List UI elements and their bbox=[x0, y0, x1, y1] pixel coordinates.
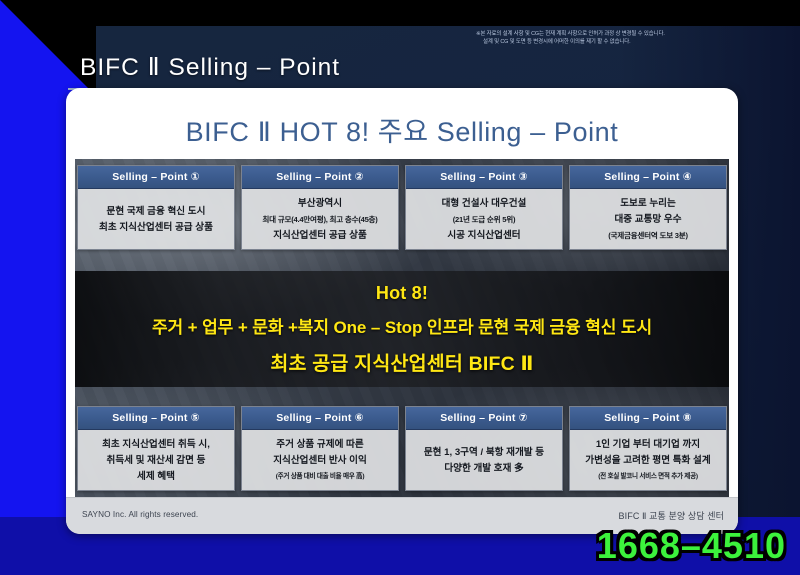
selling-point-2-body: 부산광역시 최대 규모(4.4만여평), 최고 층수(45층) 지식산업센터 공… bbox=[242, 189, 398, 249]
selling-point-card-6[interactable]: Selling – Point ⑥ 주거 상품 규제에 따른 지식산업센터 반사… bbox=[241, 406, 399, 491]
selling-point-3-line-1: 대형 건설사 대우건설 bbox=[410, 198, 558, 209]
selling-point-6-line-2: 지식산업센터 반사 이익 bbox=[246, 455, 394, 466]
selling-point-card-2[interactable]: Selling – Point ② 부산광역시 최대 규모(4.4만여평), 최… bbox=[241, 165, 399, 250]
selling-point-8-header: Selling – Point ⑧ bbox=[570, 407, 726, 430]
selling-point-row-top: Selling – Point ① 문현 국제 금융 혁신 도시 최초 지식산업… bbox=[75, 165, 729, 250]
disclaimer-note: ※본 자료의 설계 사항 및 CG는 현재 계획 사항으로 인허가 과정 상 변… bbox=[476, 30, 794, 46]
selling-point-6-line-1: 주거 상품 규제에 따른 bbox=[246, 439, 394, 450]
selling-point-1-line-1: 문현 국제 금융 혁신 도시 bbox=[82, 206, 230, 217]
selling-point-4-header: Selling – Point ④ bbox=[570, 166, 726, 189]
selling-point-1-body: 문현 국제 금융 혁신 도시 최초 지식산업센터 공급 상품 bbox=[78, 189, 234, 249]
selling-point-3-line-3: 시공 지식산업센터 bbox=[410, 230, 558, 241]
selling-point-6-header: Selling – Point ⑥ bbox=[242, 407, 398, 430]
selling-point-card-3[interactable]: Selling – Point ③ 대형 건설사 대우건설 (21년 도급 순위… bbox=[405, 165, 563, 250]
selling-point-7-body: 문현 1, 3구역 / 북항 재개발 등 다양한 개발 호재 多 bbox=[406, 430, 562, 490]
hot-8-banner: Hot 8! 주거 + 업무 + 문화 +복지 One – Stop 인프라 문… bbox=[75, 271, 729, 387]
selling-point-2-header: Selling – Point ② bbox=[242, 166, 398, 189]
selling-point-3-body: 대형 건설사 대우건설 (21년 도급 순위 5위) 시공 지식산업센터 bbox=[406, 189, 562, 249]
card-title: BIFC Ⅱ HOT 8! 주요 Selling – Point bbox=[66, 110, 738, 149]
selling-point-8-line-1: 1인 기업 부터 대기업 까지 bbox=[574, 439, 722, 450]
selling-point-4-line-1: 도보로 누리는 bbox=[574, 198, 722, 209]
hot-banner-line-2: 주거 + 업무 + 문화 +복지 One – Stop 인프라 문현 국제 금융… bbox=[152, 313, 652, 338]
hot-banner-line-3: 최초 공급 지식산업센터 BIFC Ⅱ bbox=[270, 347, 533, 376]
selling-point-2-line-3: 지식산업센터 공급 상품 bbox=[246, 230, 394, 241]
selling-point-card-5[interactable]: Selling – Point ⑤ 최초 지식산업센터 취득 시, 취득세 및 … bbox=[77, 406, 235, 491]
selling-point-4-line-3: (국제금융센터역 도보 3분) bbox=[574, 230, 722, 241]
selling-point-7-header: Selling – Point ⑦ bbox=[406, 407, 562, 430]
disclaimer-line-1: ※본 자료의 설계 사항 및 CG는 현재 계획 사항으로 인허가 과정 상 변… bbox=[476, 30, 794, 38]
selling-point-card-4[interactable]: Selling – Point ④ 도보로 누리는 대중 교통망 우수 (국제금… bbox=[569, 165, 727, 250]
selling-point-card-1[interactable]: Selling – Point ① 문현 국제 금융 혁신 도시 최초 지식산업… bbox=[77, 165, 235, 250]
selling-point-4-line-2: 대중 교통망 우수 bbox=[574, 214, 722, 225]
slide-canvas: ※본 자료의 설계 사항 및 CG는 현재 계획 사항으로 인허가 과정 상 변… bbox=[0, 0, 800, 575]
selling-point-2-line-1: 부산광역시 bbox=[246, 198, 394, 209]
selling-point-card-7[interactable]: Selling – Point ⑦ 문현 1, 3구역 / 북항 재개발 등 다… bbox=[405, 406, 563, 491]
selling-point-3-header: Selling – Point ③ bbox=[406, 166, 562, 189]
selling-point-1-line-2: 최초 지식산업센터 공급 상품 bbox=[82, 222, 230, 233]
selling-point-6-body: 주거 상품 규제에 따른 지식산업센터 반사 이익 (주거 상품 대비 대출 비… bbox=[242, 430, 398, 490]
selling-point-5-header: Selling – Point ⑤ bbox=[78, 407, 234, 430]
selling-point-4-body: 도보로 누리는 대중 교통망 우수 (국제금융센터역 도보 3분) bbox=[570, 189, 726, 249]
selling-point-8-line-2: 가변성을 고려한 평면 특화 설계 bbox=[574, 455, 722, 466]
selling-point-5-body: 최초 지식산업센터 취득 시, 취득세 및 재산세 감면 등 세제 혜택 bbox=[78, 430, 234, 490]
selling-point-8-body: 1인 기업 부터 대기업 까지 가변성을 고려한 평면 특화 설계 (전 호실 … bbox=[570, 430, 726, 490]
contact-phone-number[interactable]: 1668–4510 bbox=[597, 525, 786, 567]
selling-point-card-8[interactable]: Selling – Point ⑧ 1인 기업 부터 대기업 까지 가변성을 고… bbox=[569, 406, 727, 491]
selling-point-1-header: Selling – Point ① bbox=[78, 166, 234, 189]
background-photo-collage: Selling – Point ① 문현 국제 금융 혁신 도시 최초 지식산업… bbox=[75, 159, 729, 497]
selling-point-6-line-3: (주거 상품 대비 대출 비율 매우 高) bbox=[246, 471, 394, 482]
copyright-text: SAYNO Inc. All rights reserved. bbox=[82, 510, 198, 519]
page-title: BIFC Ⅱ Selling – Point bbox=[80, 52, 340, 82]
selling-point-row-bottom: Selling – Point ⑤ 최초 지식산업센터 취득 시, 취득세 및 … bbox=[75, 406, 729, 491]
selling-point-5-line-3: 세제 혜택 bbox=[82, 471, 230, 482]
selling-point-7-line-1: 문현 1, 3구역 / 북항 재개발 등 bbox=[410, 447, 558, 458]
selling-point-7-line-2: 다양한 개발 호재 多 bbox=[410, 463, 558, 474]
selling-point-8-line-3: (전 호실 발코니 서비스 면적 추가 제공) bbox=[574, 471, 722, 482]
footer-center-name: BIFC Ⅱ 교통 분양 상담 센터 bbox=[619, 509, 724, 522]
selling-point-2-line-2: 최대 규모(4.4만여평), 최고 층수(45층) bbox=[246, 214, 394, 225]
selling-point-3-line-2: (21년 도급 순위 5위) bbox=[410, 214, 558, 225]
selling-point-5-line-1: 최초 지식산업센터 취득 시, bbox=[82, 439, 230, 450]
hot-banner-line-1: Hot 8! bbox=[376, 283, 428, 304]
content-card: BIFC Ⅱ HOT 8! 주요 Selling – Point Selling… bbox=[66, 88, 738, 534]
disclaimer-line-2: 설계 및 CG 및 도면 등 변경시에 어머한 이의를 제기 할 수 없습니다. bbox=[476, 38, 794, 46]
frame-top-black-band bbox=[0, 0, 800, 26]
selling-point-5-line-2: 취득세 및 재산세 감면 등 bbox=[82, 455, 230, 466]
